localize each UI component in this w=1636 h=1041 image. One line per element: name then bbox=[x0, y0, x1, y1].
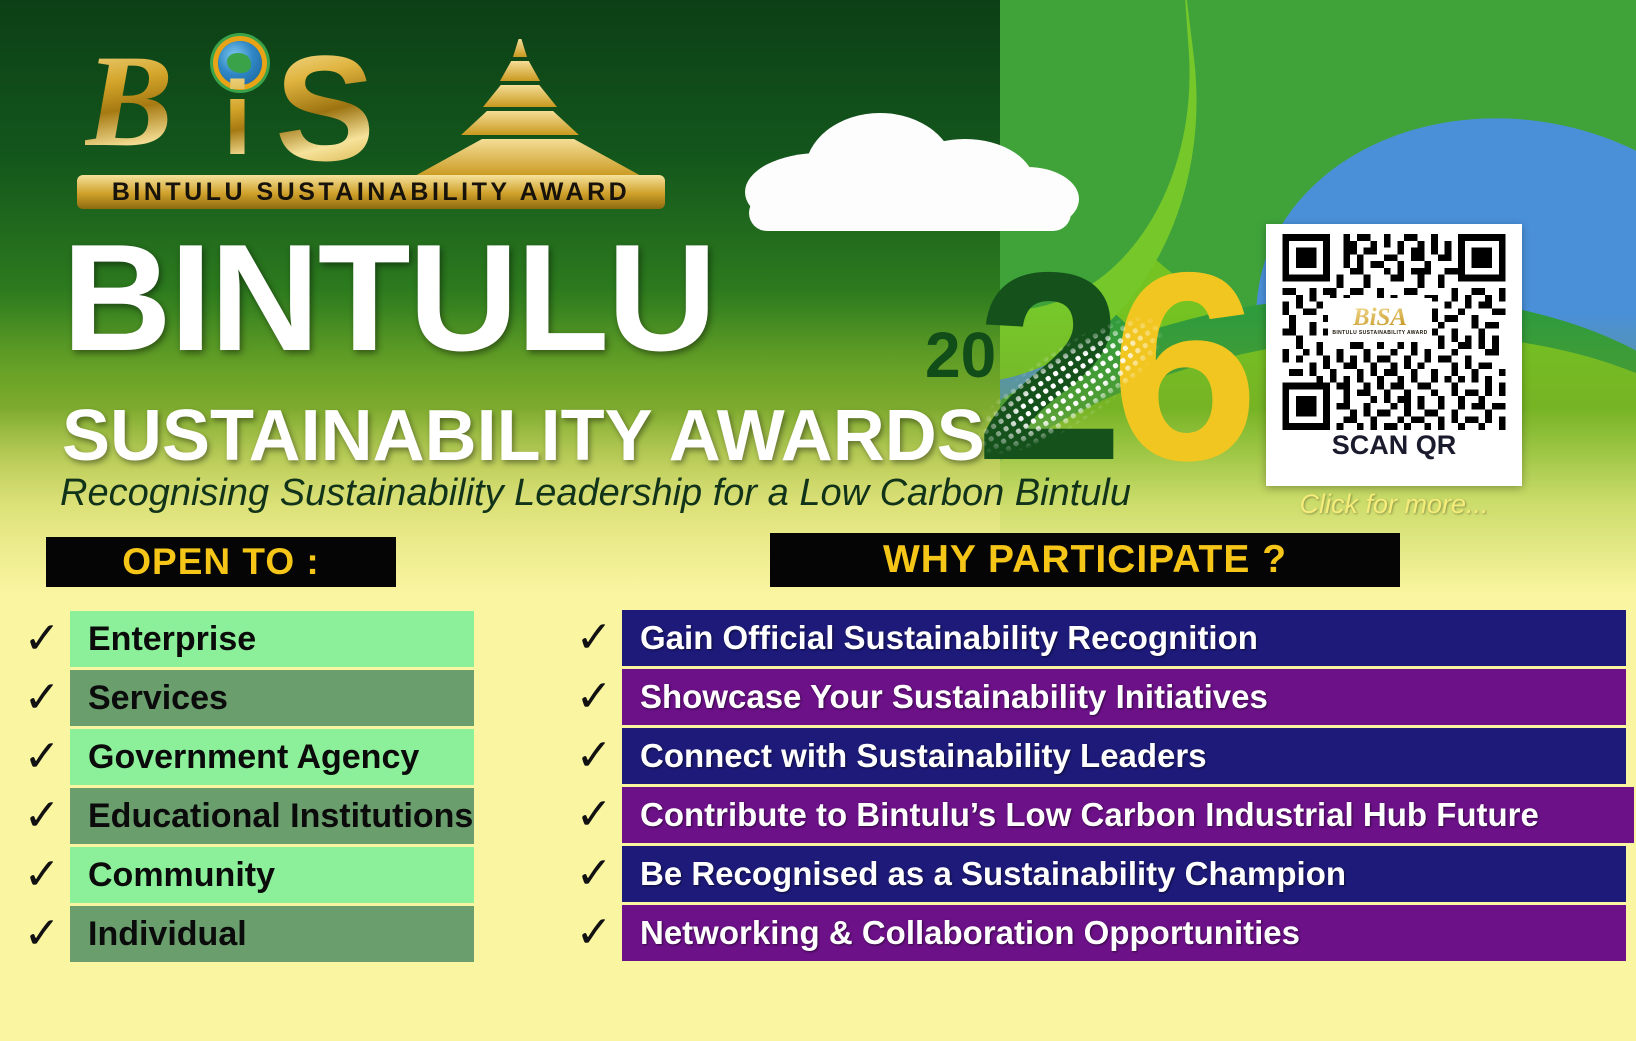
year-badge: 2 6 20 bbox=[915, 240, 1215, 510]
list-item[interactable]: ✓ Be Recognised as a Sustainability Cham… bbox=[566, 846, 1626, 902]
list-item[interactable]: ✓ Connect with Sustainability Leaders bbox=[566, 728, 1626, 784]
why-participate-list: ✓ Gain Official Sustainability Recogniti… bbox=[566, 610, 1626, 964]
logo-nameplate: BINTULU SUSTAINABILITY AWARD bbox=[77, 175, 665, 209]
why-participate-banner: WHY PARTICIPATE ? bbox=[770, 533, 1400, 587]
list-item[interactable]: ✓ Networking & Collaboration Opportuniti… bbox=[566, 905, 1626, 961]
check-icon: ✓ bbox=[14, 853, 70, 897]
logo-letter-i: i bbox=[223, 67, 252, 171]
check-icon: ✓ bbox=[14, 794, 70, 838]
open-to-item-enterprise: Enterprise bbox=[70, 611, 474, 667]
list-item[interactable]: ✓ Educational Institutions bbox=[14, 788, 474, 844]
open-to-list: ✓ Enterprise ✓ Services ✓ Government Age… bbox=[14, 611, 474, 965]
why-item-gain-recognition: Gain Official Sustainability Recognition bbox=[622, 610, 1626, 666]
open-to-item-government-agency: Government Agency bbox=[70, 729, 474, 785]
list-item[interactable]: ✓ Services bbox=[14, 670, 474, 726]
qr-embedded-logo: BiSA BINTULU SUSTAINABILITY AWARD bbox=[1328, 298, 1432, 342]
check-icon: ✓ bbox=[566, 911, 622, 955]
logo-mark: B i S bbox=[75, 25, 675, 175]
check-icon: ✓ bbox=[14, 735, 70, 779]
why-item-connect-leaders: Connect with Sustainability Leaders bbox=[622, 728, 1626, 784]
list-item[interactable]: ✓ Enterprise bbox=[14, 611, 474, 667]
open-to-heading: OPEN TO : bbox=[122, 541, 319, 583]
page-title: BINTULU bbox=[62, 222, 715, 374]
logo-nameplate-text: BINTULU SUSTAINABILITY AWARD bbox=[112, 178, 630, 207]
year-prefix: 20 bbox=[925, 318, 996, 392]
check-icon: ✓ bbox=[566, 734, 622, 778]
logo-letter-b: B bbox=[85, 35, 173, 167]
qr-embedded-logo-text: BiSA bbox=[1353, 305, 1407, 330]
why-participate-heading: WHY PARTICIPATE ? bbox=[883, 538, 1287, 582]
check-icon: ✓ bbox=[14, 617, 70, 661]
poster-root: B i S BINTULU SUSTAINABILITY AWARD BINTU… bbox=[0, 0, 1636, 1041]
check-icon: ✓ bbox=[566, 616, 622, 660]
pyramid-icon bbox=[405, 35, 655, 175]
list-item[interactable]: ✓ Gain Official Sustainability Recogniti… bbox=[566, 610, 1626, 666]
open-to-item-services: Services bbox=[70, 670, 474, 726]
check-icon: ✓ bbox=[14, 676, 70, 720]
qr-code-card[interactable]: BiSA BINTULU SUSTAINABILITY AWARD SCAN Q… bbox=[1266, 224, 1522, 486]
cloud-icon bbox=[745, 95, 1075, 230]
open-to-item-educational-institutions: Educational Institutions bbox=[70, 788, 474, 844]
list-item[interactable]: ✓ Community bbox=[14, 847, 474, 903]
qr-label: SCAN QR bbox=[1266, 430, 1522, 461]
open-to-item-community: Community bbox=[70, 847, 474, 903]
check-icon: ✓ bbox=[14, 912, 70, 956]
why-item-contribute-hub: Contribute to Bintulu’s Low Carbon Indus… bbox=[622, 787, 1634, 843]
why-item-networking: Networking & Collaboration Opportunities bbox=[622, 905, 1626, 961]
why-item-showcase-initiatives: Showcase Your Sustainability Initiatives bbox=[622, 669, 1626, 725]
open-to-banner: OPEN TO : bbox=[46, 537, 396, 587]
check-icon: ✓ bbox=[566, 793, 622, 837]
check-icon: ✓ bbox=[566, 852, 622, 896]
year-digit-6: 6 bbox=[1110, 232, 1259, 500]
year-digit-2: 2 bbox=[975, 232, 1124, 500]
list-item[interactable]: ✓ Contribute to Bintulu’s Low Carbon Ind… bbox=[566, 787, 1626, 843]
open-to-item-individual: Individual bbox=[70, 906, 474, 962]
check-icon: ✓ bbox=[566, 675, 622, 719]
logo-letter-s: S bbox=[275, 33, 375, 183]
bisa-logo[interactable]: B i S BINTULU SUSTAINABILITY AWARD bbox=[75, 25, 675, 215]
list-item[interactable]: ✓ Showcase Your Sustainability Initiativ… bbox=[566, 669, 1626, 725]
page-subtitle: SUSTAINABILITY AWARDS bbox=[62, 400, 985, 472]
why-item-sustainability-champion: Be Recognised as a Sustainability Champi… bbox=[622, 846, 1626, 902]
qr-embedded-logo-caption: BINTULU SUSTAINABILITY AWARD bbox=[1332, 331, 1427, 336]
list-item[interactable]: ✓ Individual bbox=[14, 906, 474, 962]
list-item[interactable]: ✓ Government Agency bbox=[14, 729, 474, 785]
qr-click-link[interactable]: Click for more... bbox=[1266, 489, 1522, 520]
